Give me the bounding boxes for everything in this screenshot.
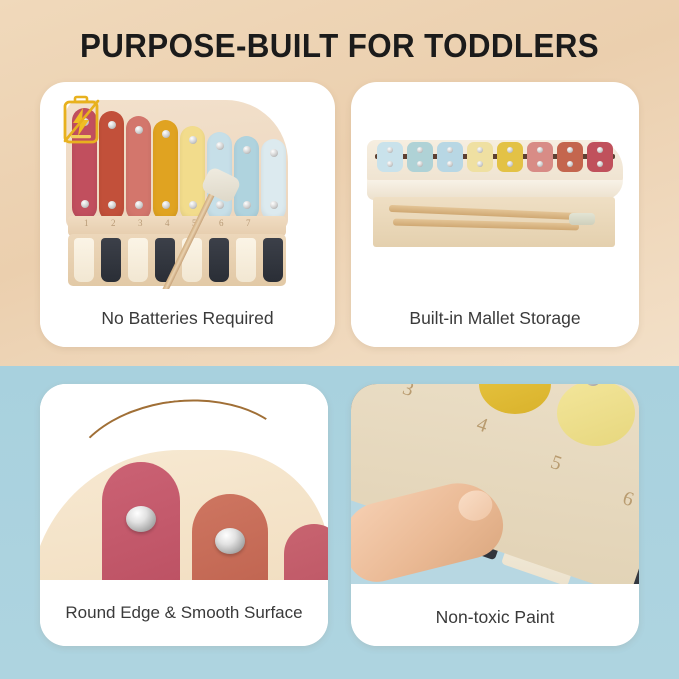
xylophone-bar-closeup-2 xyxy=(192,494,268,584)
xylophone-bar-2 xyxy=(407,142,433,172)
rivet-icon xyxy=(447,147,453,153)
feature-card-no-batteries[interactable]: 1 2 3 4 5 6 7 xyxy=(40,82,335,347)
card-media-mallet-storage xyxy=(351,82,639,290)
card-caption-non-toxic-paint: Non-toxic Paint xyxy=(351,588,639,646)
piano-key xyxy=(236,238,256,282)
rivet-icon xyxy=(567,147,573,153)
rivet-icon xyxy=(108,121,116,129)
rivet-icon xyxy=(243,146,251,154)
rivet-icon xyxy=(243,201,251,209)
card-caption-mallet-storage: Built-in Mallet Storage xyxy=(351,289,639,347)
rivet-icon xyxy=(387,147,393,153)
rivet-icon xyxy=(216,142,224,150)
xylophone-side-view xyxy=(367,140,623,260)
rivet-icon xyxy=(597,161,603,167)
rivet-icon xyxy=(417,161,423,167)
xylophone-bar-8 xyxy=(261,139,286,221)
rivet-icon xyxy=(477,147,483,153)
xylophone-key-number: 2 xyxy=(111,218,116,228)
xylophone-key-number: 7 xyxy=(246,218,251,228)
rivet-icon xyxy=(189,136,197,144)
stored-mallet xyxy=(389,205,581,220)
xylophone-bar-6 xyxy=(527,142,553,172)
xylophone-bar-7 xyxy=(557,142,583,172)
xylophone-top-plate xyxy=(367,140,623,184)
rivet-icon xyxy=(477,161,483,167)
xylophone-key-number: 6 xyxy=(219,218,224,228)
rivet-icon xyxy=(108,201,116,209)
piano-key xyxy=(74,238,94,282)
rivet-icon xyxy=(507,147,513,153)
rivet-icon xyxy=(507,161,513,167)
xylophone-number-strip: 1 2 3 4 5 6 7 xyxy=(68,216,286,236)
rivet-icon xyxy=(135,201,143,209)
rivet-icon xyxy=(567,161,573,167)
rivet-icon xyxy=(537,147,543,153)
rivet-icon xyxy=(537,161,543,167)
rivet-icon xyxy=(417,147,423,153)
rivet-icon xyxy=(215,528,245,554)
card-media-no-batteries: 1 2 3 4 5 6 7 xyxy=(40,82,335,290)
rivet-icon xyxy=(81,200,89,208)
rivet-icon xyxy=(126,506,156,532)
xylophone-key-number: 1 xyxy=(84,218,89,228)
card-media-round-edge xyxy=(40,384,328,584)
piano-key xyxy=(263,238,283,282)
xylophone-bar-5 xyxy=(497,142,523,172)
no-battery-icon xyxy=(59,95,103,145)
rivet-icon xyxy=(270,149,278,157)
page-title: PURPOSE-BUILT FOR TODDLERS xyxy=(17,27,662,65)
piano-key xyxy=(209,238,229,282)
rivet-icon xyxy=(387,161,393,167)
rivet-icon xyxy=(162,130,170,138)
rivet-icon xyxy=(216,201,224,209)
xylophone-bar-closeup-1 xyxy=(102,462,180,584)
xylophone-key-number: 3 xyxy=(138,218,143,228)
rivet-icon xyxy=(270,201,278,209)
feature-card-mallet-storage[interactable]: Built-in Mallet Storage xyxy=(351,82,639,347)
infographic-page: PURPOSE-BUILT FOR TODDLERS xyxy=(0,0,679,679)
xylophone-bar-4 xyxy=(153,120,178,221)
rivet-icon xyxy=(162,201,170,209)
xylophone-bar-1 xyxy=(377,142,403,172)
piano-key xyxy=(101,238,121,282)
xylophone-bar-4 xyxy=(467,142,493,172)
xylophone-bar-8 xyxy=(587,142,613,172)
rivet-icon xyxy=(189,201,197,209)
xylophone-key-number: 4 xyxy=(165,218,170,228)
feature-card-non-toxic-paint[interactable]: 3 4 5 6 Non-toxic Paint xyxy=(351,384,639,646)
stored-mallet-head xyxy=(569,213,595,225)
feature-card-round-edge[interactable]: Round Edge & Smooth Surface xyxy=(40,384,328,646)
card-caption-round-edge: Round Edge & Smooth Surface xyxy=(40,580,328,646)
round-edge-closeup xyxy=(40,384,328,584)
xylophone-top-view: 1 2 3 4 5 6 7 xyxy=(66,92,316,290)
card-caption-no-batteries: No Batteries Required xyxy=(40,289,335,347)
mallet-storage-drawer xyxy=(373,197,615,247)
non-toxic-paint-closeup: 3 4 5 6 xyxy=(351,384,639,584)
rivet-icon xyxy=(597,147,603,153)
stored-mallet xyxy=(393,219,579,231)
card-media-non-toxic-paint: 3 4 5 6 xyxy=(351,384,639,584)
rivet-icon xyxy=(447,161,453,167)
rivet-icon xyxy=(135,126,143,134)
xylophone-bar-3 xyxy=(437,142,463,172)
xylophone-bar-3 xyxy=(126,116,151,221)
piano-key xyxy=(128,238,148,282)
